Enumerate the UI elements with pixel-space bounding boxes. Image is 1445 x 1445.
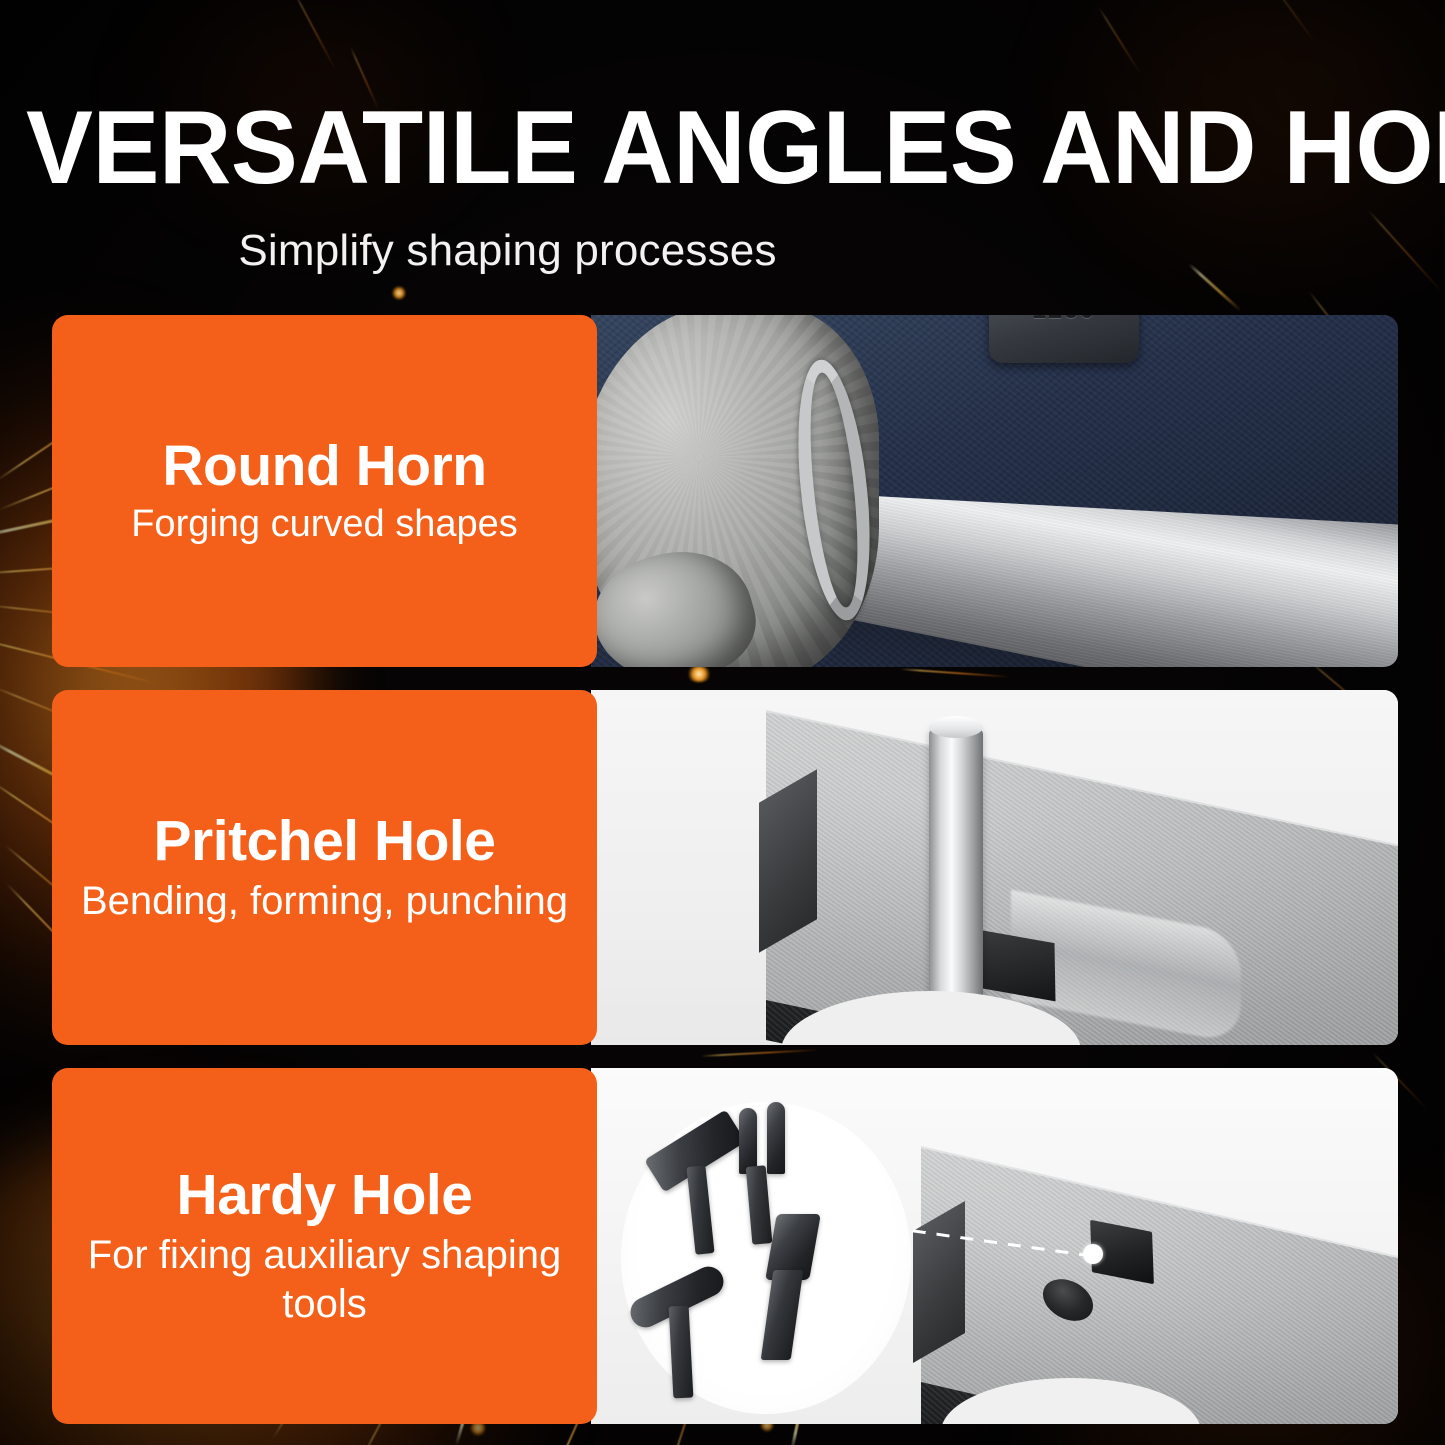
feature-title: Round Horn bbox=[162, 434, 486, 498]
tool-head bbox=[767, 1102, 785, 1174]
steel-rod-cap bbox=[929, 716, 983, 738]
spark-ember bbox=[392, 286, 406, 300]
stamped-label: 1250 bbox=[989, 315, 1139, 363]
hardy-tool-item bbox=[749, 1214, 841, 1364]
feature-description: Forging curved shapes bbox=[131, 500, 518, 549]
feature-row-round-horn: Round Horn Forging curved shapes 1250 Gl… bbox=[52, 315, 1398, 667]
spark-streak bbox=[700, 1049, 820, 1057]
infographic-root: VERSATILE ANGLES AND HOLE DESIGN Simplif… bbox=[0, 0, 1445, 1445]
feature-card-pritchel-hole[interactable]: Pritchel Hole Bending, forming, punching bbox=[52, 690, 597, 1045]
pritchel-hole-photo: Steel rod inserted through the round pri… bbox=[591, 690, 1398, 1045]
hardy-tool-item bbox=[627, 1272, 747, 1402]
tool-head bbox=[739, 1108, 757, 1174]
tool-shank bbox=[686, 1165, 714, 1255]
stamp-text: 1250 bbox=[989, 315, 1139, 325]
feature-description: For fixing auxiliary shaping tools bbox=[78, 1231, 571, 1329]
page-subtitle: Simplify shaping processes bbox=[0, 222, 1445, 280]
callout-endpoint-dot bbox=[1083, 1244, 1103, 1264]
tool-shank bbox=[761, 1270, 804, 1360]
feature-card-hardy-hole[interactable]: Hardy Hole For fixing auxiliary shaping … bbox=[52, 1068, 597, 1424]
feature-title: Pritchel Hole bbox=[154, 809, 496, 873]
spark-ember bbox=[686, 666, 712, 682]
hardy-hole-photo: Four dark hardy tools shown in a white c… bbox=[591, 1068, 1398, 1424]
feature-card-round-horn[interactable]: Round Horn Forging curved shapes bbox=[52, 315, 597, 667]
page-title: VERSATILE ANGLES AND HOLE DESIGN bbox=[26, 98, 1377, 198]
feature-row-pritchel-hole: Pritchel Hole Bending, forming, punching… bbox=[52, 690, 1398, 1045]
round-horn-photo: 1250 Gloved hand bending a steel ring ar… bbox=[591, 315, 1398, 667]
spark-streak bbox=[900, 668, 1010, 677]
feature-title: Hardy Hole bbox=[177, 1163, 473, 1227]
feature-description: Bending, forming, punching bbox=[81, 877, 568, 926]
tool-shank bbox=[669, 1306, 694, 1399]
feature-row-hardy-hole: Hardy Hole For fixing auxiliary shaping … bbox=[52, 1068, 1398, 1424]
